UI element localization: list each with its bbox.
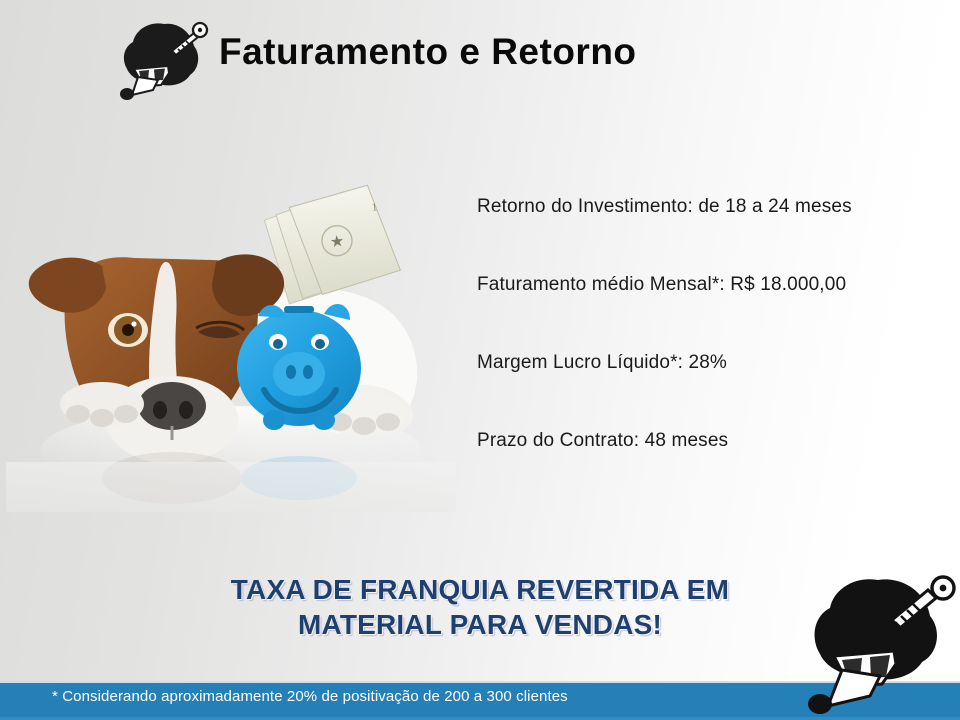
hero-photo-dog-piggybank: ★ 1 (6, 182, 456, 512)
slide-title: Faturamento e Retorno (219, 31, 637, 73)
fact-line-net-profit-margin: Margem Lucro Líquido*: 28% (477, 352, 927, 430)
footer-note: * Considerando aproximadamente 20% de po… (52, 688, 568, 705)
afro-sunglasses-mascot-icon (800, 572, 960, 720)
svg-text:1: 1 (371, 201, 378, 214)
presentation-slide: Faturamento e Retorno (0, 0, 960, 720)
brand-logo-large (800, 572, 960, 720)
svg-text:★: ★ (329, 233, 345, 251)
fact-line-contract-term: Prazo do Contrato: 48 meses (477, 430, 927, 508)
fact-line-return-on-investment: Retorno do Investimento: de 18 a 24 mese… (477, 196, 927, 274)
brand-logo-small (112, 18, 220, 102)
facts-list: Retorno do Investimento: de 18 a 24 mese… (477, 196, 927, 508)
afro-sunglasses-mascot-icon (112, 18, 220, 102)
fact-line-monthly-revenue: Faturamento médio Mensal*: R$ 18.000,00 (477, 274, 927, 352)
